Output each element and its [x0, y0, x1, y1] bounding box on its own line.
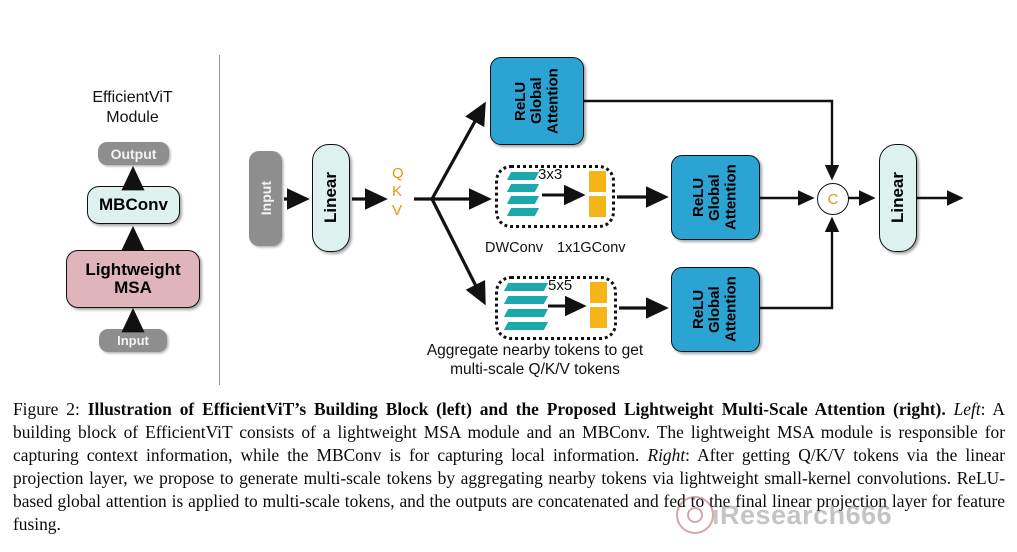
attention-label-bottom: ReLU Global Attention: [691, 268, 740, 351]
k-label: K: [392, 183, 404, 201]
dwconv-slice-5x5-1: [504, 283, 548, 291]
gconv-square-5x5-2: [590, 307, 607, 328]
input-linear-block: Linear: [312, 144, 350, 252]
kernel-label-3x3: 3x3: [538, 166, 562, 183]
efficientvit-module-title: EfficientViT Module: [60, 88, 205, 127]
right-input-node: Input: [249, 151, 282, 246]
attention-label-top: ReLU Global Attention: [513, 58, 562, 144]
relu-global-attention-top: ReLU Global Attention: [490, 57, 584, 145]
caption-right-marker: Right: [647, 445, 685, 465]
mbconv-block: MBConv: [87, 186, 180, 224]
dwconv-slice-3x3-4: [507, 208, 539, 216]
caption-figure-number: Figure 2:: [13, 399, 80, 419]
gconv-square-5x5-1: [590, 282, 607, 303]
dwconv-slice-5x5-3: [504, 309, 548, 317]
caption-title: Illustration of EfficientViT’s Building …: [88, 399, 946, 419]
dwconv-slice-5x5-4: [504, 322, 548, 330]
module-title-line-1: EfficientViT: [60, 88, 205, 108]
dwconv-slice-5x5-2: [504, 296, 548, 304]
kernel-label-5x5: 5x5: [548, 277, 572, 294]
attention-label-middle: ReLU Global Attention: [691, 156, 740, 239]
right-input-label: Input: [258, 181, 274, 215]
caption-left-marker: Left: [954, 399, 981, 419]
gconv-square-3x3-2: [589, 196, 606, 217]
figure-illustration: EfficientViT Module Output MBConv Lightw…: [0, 0, 1017, 392]
output-linear-block: Linear: [879, 144, 917, 252]
dwconv-slice-3x3-2: [507, 184, 539, 192]
q-label: Q: [392, 165, 404, 183]
input-linear-label: Linear: [322, 172, 340, 223]
left-output-node: Output: [98, 142, 169, 165]
panel-divider: [219, 55, 220, 385]
qkv-token-label: Q K V: [392, 165, 404, 220]
gconv-caption: 1x1GConv: [557, 240, 626, 256]
dwconv-caption: DWConv: [485, 240, 543, 256]
concat-node: C: [817, 183, 849, 215]
figure-caption: Figure 2: Illustration of EfficientViT’s…: [13, 398, 1005, 536]
lightweight-msa-block: Lightweight MSA: [66, 250, 200, 308]
module-title-line-2: Module: [60, 108, 205, 128]
aggregate-note: Aggregate nearby tokens to get multi-sca…: [385, 341, 685, 380]
dwconv-slice-3x3-3: [507, 196, 539, 204]
relu-global-attention-middle: ReLU Global Attention: [671, 155, 760, 240]
relu-global-attention-bottom: ReLU Global Attention: [671, 267, 760, 352]
aggregate-note-line-2: multi-scale Q/K/V tokens: [385, 360, 685, 379]
msa-label-line-2: MSA: [114, 279, 152, 297]
output-linear-label: Linear: [889, 172, 907, 223]
msa-label-line-1: Lightweight: [85, 261, 180, 279]
watermark-logo-icon: [676, 496, 714, 534]
left-input-node: Input: [99, 329, 167, 352]
v-label: V: [392, 202, 404, 220]
gconv-square-3x3-1: [589, 171, 606, 192]
aggregate-note-line-1: Aggregate nearby tokens to get: [385, 341, 685, 360]
dwconv-slice-3x3-1: [507, 172, 539, 180]
